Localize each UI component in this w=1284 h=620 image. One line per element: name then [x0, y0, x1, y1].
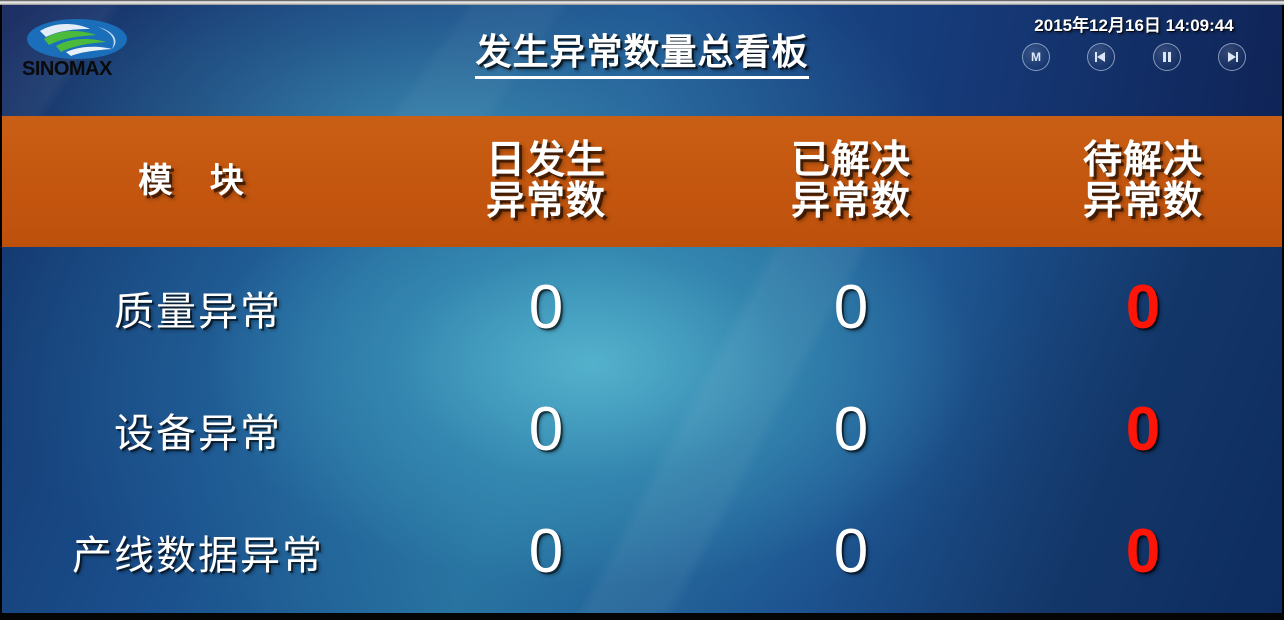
cell-pending: 0: [1004, 521, 1282, 583]
datetime-display: 2015年12月16日 14:09:44: [1008, 11, 1260, 36]
column-header-module: 模 块: [2, 116, 394, 247]
cell-resolved: 0: [698, 277, 1004, 339]
cell-resolved: 0: [698, 399, 1004, 461]
row-label: 产线数据异常: [2, 523, 394, 581]
pause-icon: [1161, 51, 1173, 63]
cell-pending: 0: [1004, 277, 1282, 339]
column-header-resolved-line1: 已解决: [791, 141, 911, 182]
table-row: 质量异常 0 0 0: [2, 247, 1282, 369]
column-header-module-line1: 模 块: [138, 164, 257, 200]
bottom-bezel: [0, 613, 1284, 620]
clock-block: 2015年12月16日 14:09:44 M: [1008, 11, 1260, 71]
logo-wordmark: SINOMAX: [22, 58, 113, 80]
page-title-text: 发生异常数量总看板: [475, 23, 808, 79]
cell-occurred: 0: [394, 277, 698, 339]
column-header-pending-line1: 待解决: [1083, 141, 1203, 182]
header-bar: SINOMAX 发生异常数量总看板 2015年12月16日 14:09:44 M: [2, 5, 1282, 116]
column-header-resolved-line2: 异常数: [791, 182, 911, 223]
table-row: 产线数据异常 0 0 0: [2, 491, 1282, 613]
dashboard-frame: SINOMAX 发生异常数量总看板 2015年12月16日 14:09:44 M: [2, 5, 1282, 613]
column-header-occurred-line1: 日发生: [486, 141, 606, 182]
step-forward-icon: [1225, 51, 1239, 63]
table-row: 设备异常 0 0 0: [2, 369, 1282, 491]
cell-resolved: 0: [698, 521, 1004, 583]
pause-button[interactable]: [1153, 43, 1181, 71]
cell-pending: 0: [1004, 399, 1282, 461]
mode-button[interactable]: M: [1022, 43, 1050, 71]
cell-occurred: 0: [394, 521, 698, 583]
column-header-occurred-line2: 异常数: [486, 182, 606, 223]
media-controls: M: [1008, 43, 1260, 71]
table-header-row: 模 块 日发生 异常数 已解决 异常数 待解决 异常数: [2, 116, 1282, 247]
step-backward-icon: [1094, 51, 1108, 63]
step-forward-button[interactable]: [1218, 43, 1246, 71]
column-header-occurred: 日发生 异常数: [394, 116, 698, 247]
row-label: 质量异常: [2, 279, 394, 337]
company-logo: SINOMAX: [16, 15, 146, 83]
letter-m-icon: M: [1031, 51, 1041, 63]
table-body: 质量异常 0 0 0 设备异常 0 0 0 产线数据异常 0 0 0: [2, 247, 1282, 613]
column-header-resolved: 已解决 异常数: [698, 116, 1004, 247]
row-label: 设备异常: [2, 401, 394, 459]
dashboard-screen: SINOMAX 发生异常数量总看板 2015年12月16日 14:09:44 M: [0, 0, 1284, 620]
cell-occurred: 0: [394, 399, 698, 461]
step-backward-button[interactable]: [1087, 43, 1115, 71]
column-header-pending-line2: 异常数: [1083, 182, 1203, 223]
column-header-pending: 待解决 异常数: [1004, 116, 1282, 247]
